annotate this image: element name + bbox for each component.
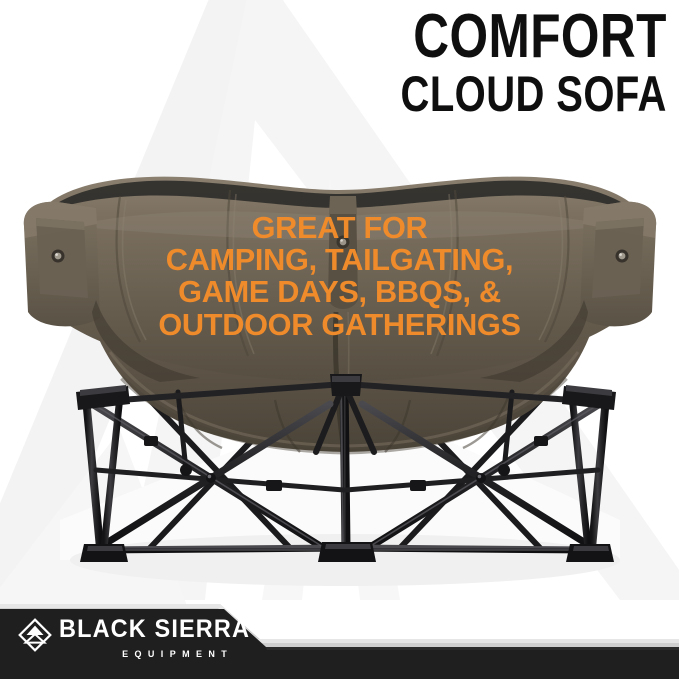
headline-line-1: COMFORT bbox=[401, 8, 667, 67]
brand-name: BLACK SIERRA bbox=[59, 617, 250, 642]
brand-wordmark: BLACK SIERRA ™ EQUIPMENT bbox=[59, 617, 272, 659]
brand-footer: BLACK SIERRA ™ EQUIPMENT bbox=[0, 589, 679, 679]
mountain-triangle-icon bbox=[18, 618, 52, 652]
product-marketing-image: COMFORT CLOUD SOFA GREAT FOR CAMPING, TA… bbox=[0, 0, 679, 679]
product-headline: COMFORT CLOUD SOFA bbox=[334, 8, 667, 118]
trademark-symbol: ™ bbox=[263, 617, 272, 626]
brand-logo: BLACK SIERRA ™ EQUIPMENT bbox=[18, 617, 272, 659]
brand-subtitle: EQUIPMENT bbox=[83, 649, 272, 659]
headline-line-2: CLOUD SOFA bbox=[401, 71, 667, 119]
